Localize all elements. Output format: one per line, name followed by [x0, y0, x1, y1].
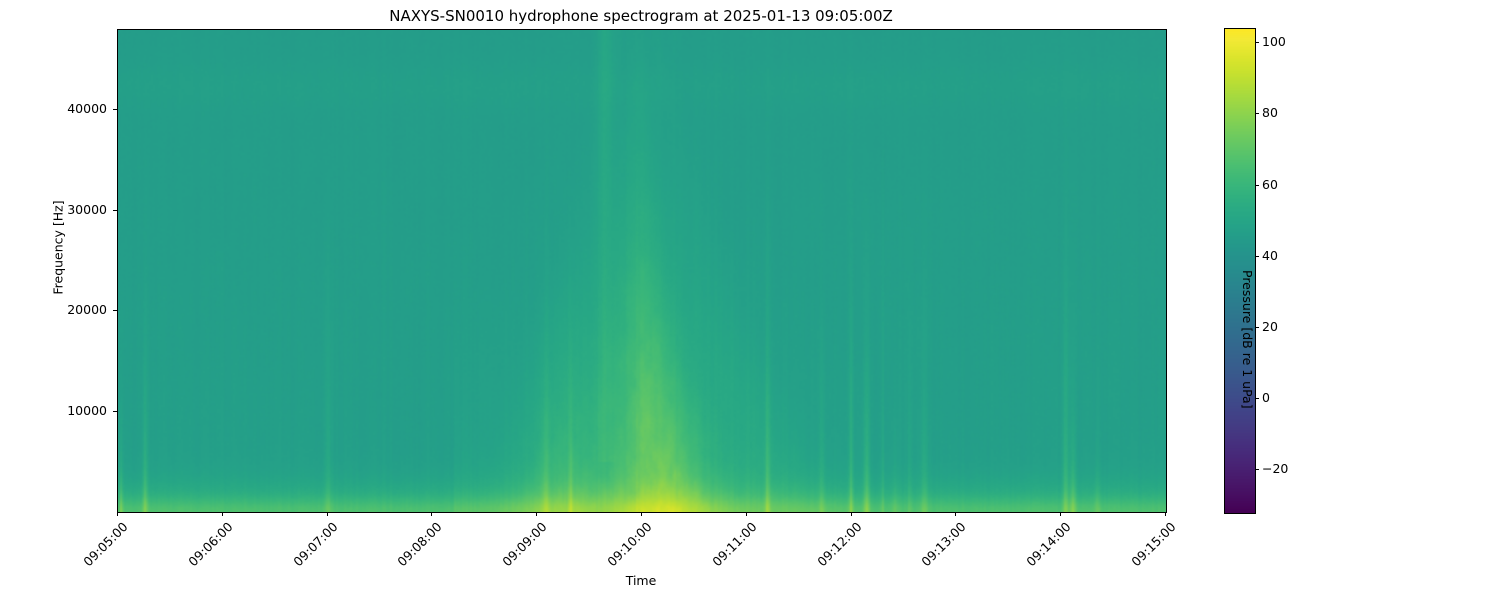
colorbar-tick-mark — [1255, 469, 1259, 470]
y-tick-label: 40000 — [0, 101, 107, 116]
y-tick-mark — [113, 210, 117, 211]
colorbar-tick-mark — [1255, 256, 1259, 257]
colorbar-tick-label: 40 — [1262, 248, 1278, 263]
y-tick-mark — [113, 310, 117, 311]
spectrogram-plot-area[interactable] — [117, 29, 1167, 513]
colorbar-tick-mark — [1255, 185, 1259, 186]
colorbar-tick-label: −20 — [1262, 461, 1288, 476]
y-tick-mark — [113, 411, 117, 412]
y-tick-label: 10000 — [0, 403, 107, 418]
x-tick-mark — [327, 512, 328, 516]
colorbar-tick-label: 60 — [1262, 177, 1278, 192]
y-tick-label: 30000 — [0, 202, 107, 217]
figure-canvas: NAXYS-SN0010 hydrophone spectrogram at 2… — [0, 0, 1500, 600]
y-axis-label: Frequency [Hz] — [51, 178, 66, 318]
colorbar-tick-label: 20 — [1262, 319, 1278, 334]
x-axis-label: Time — [117, 573, 1165, 588]
spectrogram-image — [118, 30, 1166, 512]
x-tick-mark — [851, 512, 852, 516]
x-tick-mark — [1165, 512, 1166, 516]
colorbar-tick-label: 100 — [1262, 34, 1286, 49]
colorbar-tick-label: 80 — [1262, 105, 1278, 120]
x-tick-mark — [1060, 512, 1061, 516]
x-tick-mark — [955, 512, 956, 516]
colorbar-tick-mark — [1255, 113, 1259, 114]
x-tick-mark — [746, 512, 747, 516]
page-title: NAXYS-SN0010 hydrophone spectrogram at 2… — [117, 7, 1165, 25]
y-tick-label: 20000 — [0, 302, 107, 317]
y-tick-mark — [113, 109, 117, 110]
colorbar-tick-mark — [1255, 42, 1259, 43]
colorbar-tick-mark — [1255, 398, 1259, 399]
colorbar-tick-label: 0 — [1262, 390, 1270, 405]
x-tick-mark — [222, 512, 223, 516]
x-tick-mark — [117, 512, 118, 516]
x-tick-mark — [641, 512, 642, 516]
colorbar-tick-mark — [1255, 327, 1259, 328]
x-tick-mark — [536, 512, 537, 516]
colorbar-label: Pressure [dB re 1 uPa] — [1240, 270, 1255, 409]
x-tick-mark — [431, 512, 432, 516]
